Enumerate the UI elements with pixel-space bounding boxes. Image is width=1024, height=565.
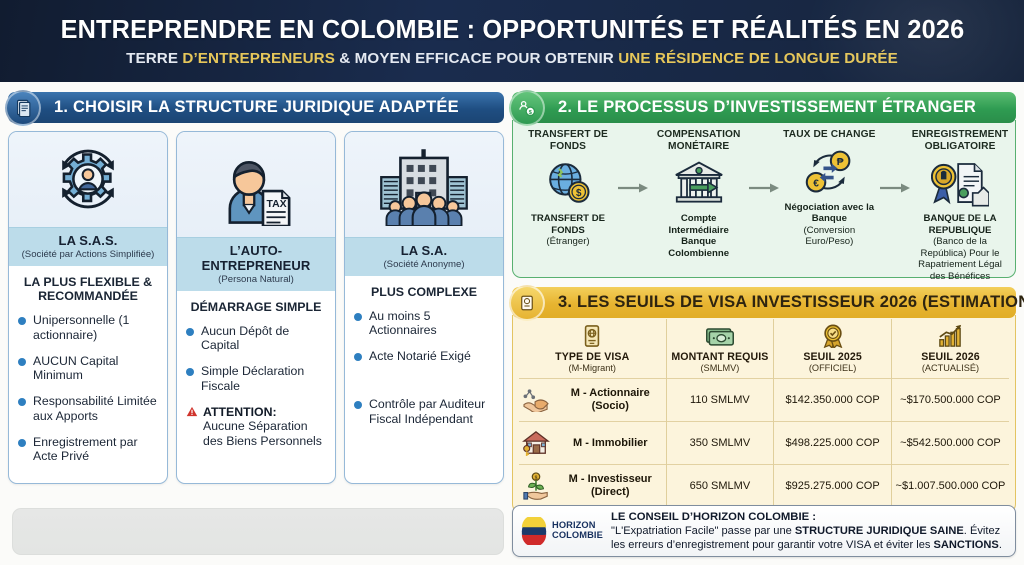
money-transfer-icon: $ <box>509 90 545 126</box>
row-name-text: M - Actionnaire (Socio) <box>557 387 664 413</box>
flow-step-registration: ENREGISTREMENT OBLIGATOIRE <box>911 129 1009 282</box>
logo-mark-icon <box>519 517 549 545</box>
card-sa-header: LA S.A. (Société Anonyme) <box>345 237 503 276</box>
section-1-legal-structures: 1. CHOISIR LA STRUCTURE JURIDIQUE ADAPTÉ… <box>8 92 504 484</box>
row-threshold-2025: $498.225.000 COP <box>774 422 892 465</box>
card-auto-title: L’AUTO-ENTREPRENEUR <box>181 243 331 273</box>
bullet-dot-icon <box>354 401 362 409</box>
page-title: ENTREPRENDRE EN COLOMBIE : OPPORTUNITÉS … <box>60 16 964 45</box>
flow-label-normal: (Banco de la República) Pour le Rapatrie… <box>918 236 1002 282</box>
card-sa-bullets: Au moins 5 Actionnaires Acte Notarié Exi… <box>354 309 494 427</box>
row-threshold-2026: ~$542.500.000 COP <box>891 422 1009 465</box>
row-name-main: M - Actionnaire <box>571 387 650 399</box>
bullet-dot-icon <box>18 358 26 366</box>
row-amount: 350 SMLMV <box>666 422 774 465</box>
advice-line2-c: . <box>999 539 1002 551</box>
flow-label-bold: BANQUE DE LA REPUBLIQUE <box>924 213 997 236</box>
card-sas-body: LA PLUS FLEXIBLE & RECOMMANDÉE Uniperson… <box>9 266 167 483</box>
table-head: TYPE DE VISA (M-Migrant) MONTANT REQUIS … <box>519 319 1009 379</box>
bank-building-icon <box>650 157 748 209</box>
card-sas[interactable]: LA S.A.S. (Société par Actions Simplifié… <box>8 131 168 484</box>
table-row[interactable]: M - Actionnaire (Socio) 110 SMLMV $142.3… <box>519 379 1009 422</box>
subtitle-part-2: & MOYEN EFFICACE POUR OBTENIR <box>335 50 618 67</box>
money-plant-hand-icon: $ <box>521 471 551 501</box>
card-sa-tagline: PLUS COMPLEXE <box>354 285 494 300</box>
column-threshold-2026: SEUIL 2026 (ACTUALISÉ) <box>891 319 1009 379</box>
flow-label-bold: Négociation avec la Banque <box>785 202 875 225</box>
flow-label-normal: (Étranger) <box>546 236 589 247</box>
row-name-text: M - Investisseur (Direct) <box>557 473 664 499</box>
card-auto-subtitle: (Persona Natural) <box>181 274 331 285</box>
logo-word-2: COLOMBIE <box>552 530 603 540</box>
empty-placeholder-box <box>12 508 504 555</box>
section-1-header: 1. CHOISIR LA STRUCTURE JURIDIQUE ADAPTÉ… <box>8 92 504 123</box>
flow-step-label: BANQUE DE LA REPUBLIQUE (Banco de la Rep… <box>911 213 1009 282</box>
card-auto-body: DÉMARRAGE SIMPLE Aucun Dépôt de Capital … <box>177 291 335 483</box>
card-sas-subtitle: (Société par Actions Simplifiée) <box>13 249 163 260</box>
passport-icon <box>509 285 545 321</box>
gear-person-icon <box>9 132 167 227</box>
column-header-text: SEUIL 2025 <box>776 351 889 363</box>
bullet-dot-icon <box>186 368 194 376</box>
svg-text:$: $ <box>576 188 582 199</box>
row-name-sub: (Socio) <box>557 400 664 413</box>
list-item: Aucun Dépôt de Capital <box>186 324 326 354</box>
infographic-page: ENTREPRENDRE EN COLOMBIE : OPPORTUNITÉS … <box>0 0 1024 565</box>
list-item: Responsabilité Limitée aux Apports <box>18 394 158 424</box>
bullet-dot-icon <box>18 439 26 447</box>
flow-step-transfer: TRANSFERT DE FONDS $ TRAN <box>519 129 617 248</box>
row-visa-type: M - Actionnaire (Socio) <box>519 379 666 422</box>
card-auto-bullets: Aucun Dépôt de Capital Simple Déclaratio… <box>186 324 326 394</box>
advice-heading: LE CONSEIL D’HORIZON COLOMBIE : <box>611 510 1007 524</box>
flow-step-label: Compte Intermédiaire Banque Colombienne <box>650 213 748 259</box>
advice-text: LE CONSEIL D’HORIZON COLOMBIE : "L'Expat… <box>611 510 1007 553</box>
investment-flow: TRANSFERT DE FONDS $ TRAN <box>512 120 1016 278</box>
flow-step-clearing: COMPENSATION MONÉTAIRE Compte Inter <box>650 129 748 259</box>
section-2-title: 2. LE PROCESSUS D’INVESTISSEMENT ÉTRANGE… <box>558 98 976 117</box>
certificate-bank-icon <box>911 157 1009 209</box>
row-amount: 110 SMLMV <box>666 379 774 422</box>
card-auto-tagline: DÉMARRAGE SIMPLE <box>186 300 326 315</box>
visa-threshold-table: TYPE DE VISA (M-Migrant) MONTANT REQUIS … <box>519 319 1009 507</box>
advice-line1-bold: STRUCTURE JURIDIQUE SAINE <box>795 525 964 537</box>
arrow-right-icon <box>878 129 911 195</box>
arrow-right-icon <box>748 129 781 195</box>
section-3-header: 3. LES SEUILS DE VISA INVESTISSEUR 2026 … <box>512 287 1016 318</box>
row-name-text: M - Immobilier <box>557 437 664 450</box>
flow-step-caption: TAUX DE CHANGE <box>780 129 878 141</box>
bullet-text: Contrôle par Auditeur Fiscal Indépendant <box>369 397 485 426</box>
page-subtitle: TERRE D’ENTREPRENEURS & MOYEN EFFICACE P… <box>126 50 898 67</box>
logo-word-1: HORIZON <box>552 520 596 530</box>
visa-threshold-table-container: TYPE DE VISA (M-Migrant) MONTANT REQUIS … <box>512 315 1016 513</box>
handshake-icon <box>521 385 551 415</box>
row-name-main: M - Investisseur <box>569 473 652 485</box>
house-key-icon <box>521 428 551 458</box>
card-sas-bullets: Unipersonnelle (1 actionnaire) AUCUN Cap… <box>18 313 158 464</box>
card-sa-subtitle: (Société Anonyme) <box>349 259 499 270</box>
table-body: M - Actionnaire (Socio) 110 SMLMV $142.3… <box>519 379 1009 508</box>
advice-banner: HORIZON COLOMBIE LE CONSEIL D’HORIZON CO… <box>512 505 1016 557</box>
banknote-icon <box>669 323 772 349</box>
column-subheader-text: (M-Migrant) <box>521 363 664 373</box>
row-threshold-2026: ~$1.007.500.000 COP <box>891 465 1009 508</box>
bullet-dot-icon <box>354 353 362 361</box>
flow-step-label: Négociation avec la Banque (Conversion E… <box>780 202 878 248</box>
bullet-text: Responsabilité Limitée aux Apports <box>33 394 157 423</box>
card-auto-warning: ATTENTION: Aucune Séparation des Biens P… <box>186 405 326 449</box>
growth-chart-icon <box>894 323 1007 349</box>
card-sas-title: LA S.A.S. <box>13 233 163 248</box>
subtitle-part-0: TERRE <box>126 50 182 67</box>
list-item: Au moins 5 Actionnaires <box>354 309 494 339</box>
svg-text:TAX: TAX <box>266 198 286 209</box>
card-sas-tagline: LA PLUS FLEXIBLE & RECOMMANDÉE <box>18 275 158 304</box>
award-seal-icon <box>776 323 889 349</box>
card-sa[interactable]: LA S.A. (Société Anonyme) PLUS COMPLEXE … <box>344 131 504 484</box>
table-header-row: TYPE DE VISA (M-Migrant) MONTANT REQUIS … <box>519 319 1009 379</box>
row-visa-type: $ M - Investisseur (Direct) <box>519 465 666 508</box>
office-building-people-icon <box>345 132 503 237</box>
bullet-dot-icon <box>186 328 194 336</box>
bullet-text: Aucun Dépôt de Capital <box>201 324 289 353</box>
column-subheader-text: (SMLMV) <box>669 363 772 373</box>
advice-line2-bold: SANCTIONS <box>934 539 999 551</box>
card-sa-body: PLUS COMPLEXE Au moins 5 Actionnaires Ac… <box>345 276 503 483</box>
table-row[interactable]: $ M - Investisseur (Direct) 650 SMLMV $9… <box>519 465 1009 508</box>
list-item: Unipersonnelle (1 actionnaire) <box>18 313 158 343</box>
list-item: Simple Déclaration Fiscale <box>186 364 326 394</box>
bullet-text: Enregistrement par Acte Privé <box>33 435 138 464</box>
logo-wordmark: HORIZON COLOMBIE <box>552 521 603 541</box>
section-3-visa-thresholds: 3. LES SEUILS DE VISA INVESTISSEUR 2026 … <box>512 287 1016 513</box>
card-auto-entrepreneur[interactable]: TAX L’AUTO-ENTREPRENEUR (Persona Natural… <box>176 131 336 484</box>
list-item: AUCUN Capital Minimum <box>18 354 158 384</box>
bullet-dot-icon <box>354 313 362 321</box>
column-threshold-2025: SEUIL 2025 (OFFICIEL) <box>774 319 892 379</box>
arrow-right-icon <box>617 129 650 195</box>
currency-exchange-icon: ₱ € <box>780 146 878 198</box>
row-threshold-2026: ~$170.500.000 COP <box>891 379 1009 422</box>
card-auto-header: L’AUTO-ENTREPRENEUR (Persona Natural) <box>177 237 335 291</box>
bullet-text: Au moins 5 Actionnaires <box>369 309 437 338</box>
flow-step-caption: COMPENSATION MONÉTAIRE <box>650 129 748 152</box>
bullet-text: Simple Déclaration Fiscale <box>201 364 304 393</box>
warning-text: Aucune Séparation des Biens Personnels <box>203 419 322 448</box>
warning-label: ATTENTION: <box>203 405 277 419</box>
person-tax-document-icon: TAX <box>177 132 335 237</box>
horizon-colombie-logo: HORIZON COLOMBIE <box>519 517 611 545</box>
column-amount: MONTANT REQUIS (SMLMV) <box>666 319 774 379</box>
section-1-title: 1. CHOISIR LA STRUCTURE JURIDIQUE ADAPTÉ… <box>54 98 459 117</box>
card-sa-title: LA S.A. <box>349 243 499 258</box>
column-subheader-text: (OFFICIEL) <box>776 363 889 373</box>
advice-line2-a: erreurs d’enregistrement pour garantir v… <box>628 539 933 551</box>
passport-icon <box>521 323 664 349</box>
flow-label-bold: TRANSFERT DE FONDS <box>531 213 605 236</box>
table-row[interactable]: M - Immobilier 350 SMLMV $498.225.000 CO… <box>519 422 1009 465</box>
flow-step-caption: ENREGISTREMENT OBLIGATOIRE <box>911 129 1009 152</box>
globe-dollar-icon: $ <box>519 157 617 209</box>
flow-step-caption: TRANSFERT DE FONDS <box>519 129 617 152</box>
list-item: Contrôle par Auditeur Fiscal Indépendant <box>354 397 494 427</box>
list-item: Acte Notarié Exigé <box>354 349 494 364</box>
bullet-dot-icon <box>18 317 26 325</box>
card-sas-header: LA S.A.S. (Société par Actions Simplifié… <box>9 227 167 266</box>
document-icon <box>5 90 41 126</box>
structure-card-list: LA S.A.S. (Société par Actions Simplifié… <box>8 131 504 484</box>
column-subheader-text: (ACTUALISÉ) <box>894 363 1007 373</box>
bullet-text: Unipersonnelle (1 actionnaire) <box>33 313 129 342</box>
flow-label-normal: (Conversion Euro/Peso) <box>803 225 855 248</box>
svg-text:€: € <box>814 178 820 189</box>
column-header-text: SEUIL 2026 <box>894 351 1007 363</box>
column-header-text: TYPE DE VISA <box>521 351 664 363</box>
flow-step-label: TRANSFERT DE FONDS (Étranger) <box>519 213 617 248</box>
row-threshold-2025: $142.350.000 COP <box>774 379 892 422</box>
page-header: ENTREPRENDRE EN COLOMBIE : OPPORTUNITÉS … <box>0 0 1024 82</box>
subtitle-part-3: UNE RÉSIDENCE DE LONGUE DURÉE <box>618 50 898 67</box>
row-amount: 650 SMLMV <box>666 465 774 508</box>
row-name-sub: (Direct) <box>557 486 664 499</box>
bullet-dot-icon <box>18 398 26 406</box>
list-item: Enregistrement par Acte Privé <box>18 435 158 465</box>
column-header-text: MONTANT REQUIS <box>669 351 772 363</box>
row-visa-type: M - Immobilier <box>519 422 666 465</box>
svg-text:₱: ₱ <box>837 157 844 168</box>
bullet-text: AUCUN Capital Minimum <box>33 354 118 383</box>
section-2-investment-process: $ 2. LE PROCESSUS D’INVESTISSEMENT ÉTRAN… <box>512 92 1016 278</box>
row-threshold-2025: $925.275.000 COP <box>774 465 892 508</box>
row-name-main: M - Immobilier <box>573 437 648 449</box>
bullet-text: Acte Notarié Exigé <box>369 349 471 363</box>
subtitle-part-1: D’ENTREPRENEURS <box>182 50 335 67</box>
section-3-title: 3. LES SEUILS DE VISA INVESTISSEUR 2026 … <box>558 293 1024 312</box>
svg-text:$: $ <box>529 110 533 116</box>
advice-line1-a: "L'Expatriation Facile" passe par une <box>611 525 795 537</box>
column-visa-type: TYPE DE VISA (M-Migrant) <box>519 319 666 379</box>
warning-triangle-icon <box>186 406 198 421</box>
flow-label-bold: Compte Intermédiaire Banque Colombienne <box>668 213 729 259</box>
section-2-header: $ 2. LE PROCESSUS D’INVESTISSEMENT ÉTRAN… <box>512 92 1016 123</box>
flow-step-exchange: TAUX DE CHANGE ₱ € Négocia <box>780 129 878 248</box>
